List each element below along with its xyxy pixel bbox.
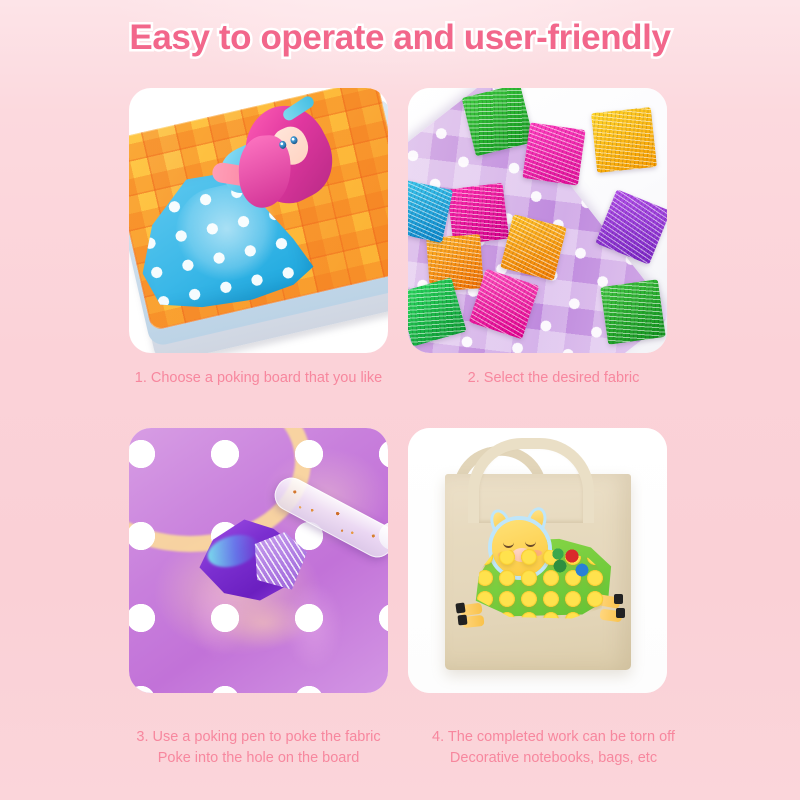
step-2-caption-line-1: 2. Select the desired fabric: [400, 369, 707, 388]
step-4-caption-line-1: 4. The completed work can be torn off: [400, 728, 707, 747]
fabric-square: [522, 122, 585, 185]
step-1-image-panel: [129, 88, 388, 353]
llama-hoof: [614, 594, 623, 604]
promo-page: Easy to operate and user-friendly: [0, 0, 800, 800]
llama-hoof: [616, 608, 625, 618]
fabric-square: [591, 107, 657, 173]
llama-hoof: [455, 602, 465, 613]
step-3-caption-line-1: 3. Use a poking pen to poke the fabric: [105, 728, 412, 747]
fabric-square: [600, 279, 666, 345]
step-4-caption: 4. The completed work can be torn off De…: [400, 728, 707, 768]
llama-hoof: [458, 615, 468, 626]
step-1-caption-line-1: 1. Choose a poking board that you like: [105, 369, 412, 388]
page-title: Easy to operate and user-friendly: [0, 18, 800, 58]
tote-handle-front: [468, 438, 594, 523]
llama-flower-decoration: [548, 546, 594, 586]
step-3-caption: 3. Use a poking pen to poke the fabric P…: [105, 728, 412, 768]
step-3-image-panel: [129, 428, 388, 693]
poking-board-illustration: [129, 88, 388, 353]
step-4-image-panel: [408, 428, 667, 693]
step-1-caption: 1. Choose a poking board that you like: [105, 369, 412, 388]
step-2-image-panel: [408, 88, 667, 353]
step-3-caption-line-2: Poke into the hole on the board: [105, 749, 412, 768]
step-4-caption-line-2: Decorative notebooks, bags, etc: [400, 749, 707, 768]
step-2-caption: 2. Select the desired fabric: [400, 369, 707, 388]
